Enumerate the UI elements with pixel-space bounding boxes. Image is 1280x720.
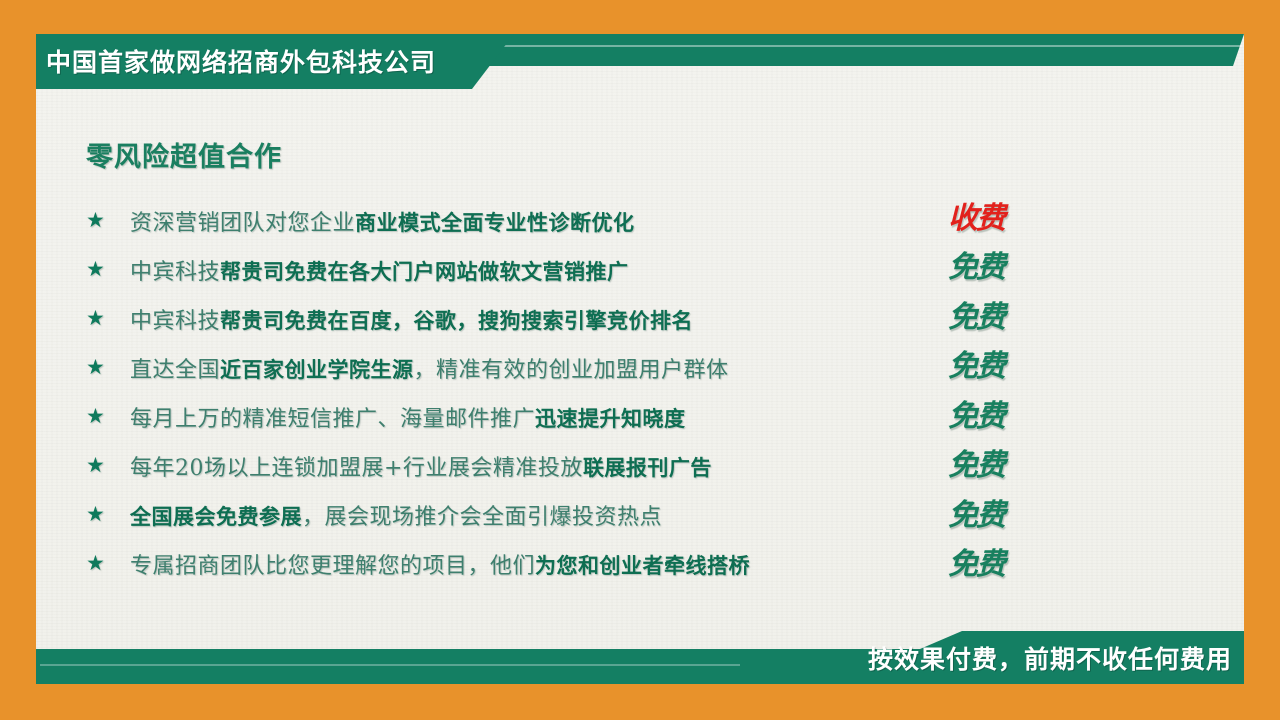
text-bold-mid: 全国展会免费参展 (130, 505, 302, 529)
text-bold-mid: 迅速提升知晓度 (535, 407, 686, 431)
text-plain-prefix: 每月上万的精准短信推广、海量邮件推广 (130, 407, 535, 432)
star-icon: ★ (86, 308, 130, 329)
list-item-text: 中宾科技帮贵司免费在各大门户网站做软文营销推广 (130, 254, 629, 286)
text-plain-prefix: 专属招商团队比您更理解您的项目，他们 (130, 554, 535, 579)
star-icon: ★ (86, 357, 130, 378)
text-bold-mid: 近百家创业学院生源 (220, 358, 414, 382)
price-badge-free: 免费 (948, 537, 1068, 587)
text-bold-mid: 商业模式全面专业性诊断优化 (355, 211, 635, 235)
section-title: 零风险超值合作 (86, 135, 282, 174)
price-badge-fee: 收费 (948, 190, 1068, 240)
list-item: ★ 每月上万的精准短信推广、海量邮件推广迅速提升知晓度 (86, 392, 966, 441)
price-badge-free: 免费 (948, 339, 1068, 389)
list-item: ★ 每年20场以上连锁加盟展+行业展会精准投放联展报刊广告 (86, 441, 966, 490)
star-icon: ★ (86, 455, 130, 476)
text-bold-mid: 帮贵司免费在百度，谷歌，搜狗搜索引擎竞价排名 (220, 309, 693, 333)
list-item-text: 直达全国近百家创业学院生源，精准有效的创业加盟用户群体 (130, 352, 729, 384)
footer-text: 按效果付费，前期不收任何费用 (868, 631, 1232, 684)
list-item-text: 资深营销团队对您企业商业模式全面专业性诊断优化 (130, 205, 635, 237)
list-item: ★ 全国展会免费参展，展会现场推介会全面引爆投资热点 (86, 490, 966, 539)
list-item: ★ 资深营销团队对您企业商业模式全面专业性诊断优化 (86, 196, 966, 245)
text-plain-prefix: 资深营销团队对您企业 (130, 211, 355, 236)
text-plain-prefix: 中宾科技 (130, 309, 220, 334)
text-plain-suffix: ，展会现场推介会全面引爆投资热点 (302, 505, 662, 530)
text-plain-prefix: 每年20场以上连锁加盟展+行业展会精准投放 (130, 456, 583, 481)
list-item: ★ 专属招商团队比您更理解您的项目，他们为您和创业者牵线搭桥 (86, 539, 966, 588)
list-item-text: 每年20场以上连锁加盟展+行业展会精准投放联展报刊广告 (130, 450, 712, 482)
header-title: 中国首家做网络招商外包科技公司 (40, 38, 516, 84)
price-badge-free: 免费 (948, 388, 1068, 438)
list-item-text: 全国展会免费参展，展会现场推介会全面引爆投资热点 (130, 499, 662, 531)
slide-root: 中国首家做网络招商外包科技公司 零风险超值合作 ★ 资深营销团队对您企业商业模式… (0, 0, 1280, 720)
star-icon: ★ (86, 406, 130, 427)
price-badge-free: 免费 (948, 438, 1068, 488)
list-item: ★ 中宾科技帮贵司免费在各大门户网站做软文营销推广 (86, 245, 966, 294)
price-badge-free: 免费 (948, 240, 1068, 290)
star-icon: ★ (86, 504, 130, 525)
text-plain-prefix: 直达全国 (130, 358, 220, 383)
price-badge-free: 免费 (948, 289, 1068, 339)
list-item-text: 专属招商团队比您更理解您的项目，他们为您和创业者牵线搭桥 (130, 548, 750, 580)
footer-bar: 按效果付费，前期不收任何费用 (0, 631, 1280, 687)
list-item: ★ 直达全国近百家创业学院生源，精准有效的创业加盟用户群体 (86, 343, 966, 392)
footer-divider-line (40, 664, 740, 666)
list-item: ★ 中宾科技帮贵司免费在百度，谷歌，搜狗搜索引擎竞价排名 (86, 294, 966, 343)
list-item-text: 每月上万的精准短信推广、海量邮件推广迅速提升知晓度 (130, 401, 686, 433)
price-badge-free: 免费 (948, 487, 1068, 537)
star-icon: ★ (86, 553, 130, 574)
star-icon: ★ (86, 210, 130, 231)
text-bold-mid: 为您和创业者牵线搭桥 (535, 554, 750, 578)
star-icon: ★ (86, 259, 130, 280)
benefits-list: ★ 资深营销团队对您企业商业模式全面专业性诊断优化 ★ 中宾科技帮贵司免费在各大… (86, 196, 966, 588)
text-plain-prefix: 中宾科技 (130, 260, 220, 285)
list-item-text: 中宾科技帮贵司免费在百度，谷歌，搜狗搜索引擎竞价排名 (130, 303, 693, 335)
text-bold-mid: 联展报刊广告 (583, 456, 712, 480)
text-bold-mid: 帮贵司免费在各大门户网站做软文营销推广 (220, 260, 629, 284)
text-plain-suffix: ，精准有效的创业加盟用户群体 (414, 358, 729, 383)
price-column: 收费 免费 免费 免费 免费 免费 免费 免费 (948, 190, 1068, 586)
